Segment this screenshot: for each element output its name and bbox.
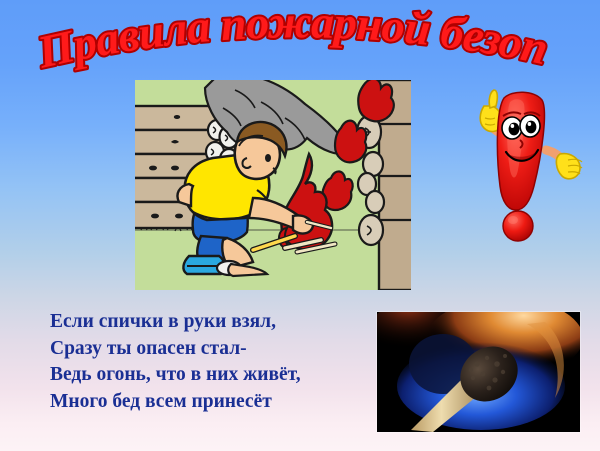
title-text-stroke: Правила пожарной безопасности <box>18 0 552 78</box>
title-text-fill-path: Правила пожарной безопасности <box>18 0 552 78</box>
mascot-right-arm <box>546 150 582 179</box>
mascot-artwork <box>468 84 588 246</box>
poem-line-4: Много бед всем принесёт <box>50 389 370 416</box>
poem-line-3: Ведь огонь, что в них живёт, <box>50 362 370 389</box>
poem-text-block: Если спички в руки взял, Сразу ты опасен… <box>50 309 370 415</box>
fire-safety-illustration <box>135 80 411 290</box>
burning-match-photo <box>377 312 580 432</box>
mascot-dot <box>503 211 533 241</box>
title-wordart: Правила пожарной безопасности Правила по… <box>36 2 536 80</box>
match-photo-artwork <box>377 312 580 432</box>
presentation-slide: Правила пожарной безопасности Правила по… <box>0 0 600 451</box>
slide-title: Правила пожарной безопасности Правила по… <box>36 2 536 80</box>
poem-line-2: Сразу ты опасен стал- <box>50 336 370 363</box>
mascot-dot-highlight <box>508 216 518 224</box>
illustration-artwork <box>135 80 411 290</box>
poem-line-1: Если спички в руки взял, <box>50 309 370 336</box>
title-text-fill: Правила пожарной безопасности <box>18 0 552 78</box>
exclamation-mark-mascot <box>468 84 588 246</box>
title-text-stroke-path: Правила пожарной безопасности <box>18 0 552 78</box>
